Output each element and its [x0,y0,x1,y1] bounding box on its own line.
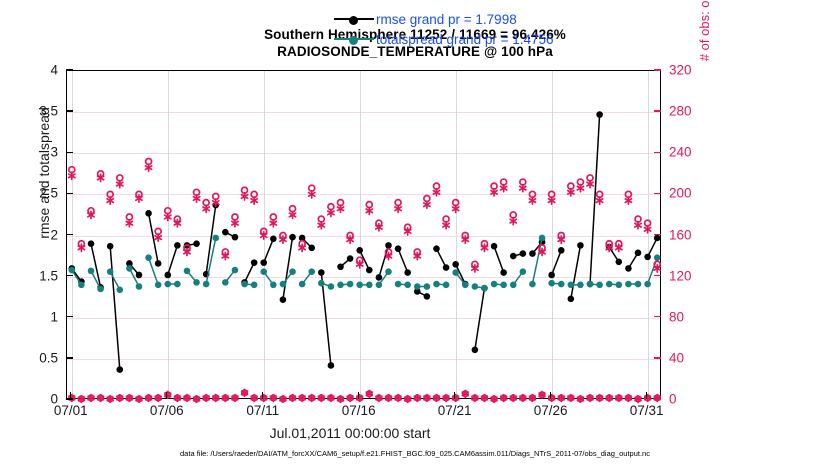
data-point [548,280,555,287]
data-point [232,234,239,241]
data-point [424,283,431,290]
data-point [145,254,152,261]
data-point [318,280,325,287]
data-point [251,259,258,266]
x-tick-mark [358,392,359,399]
obs-assimilated-marker [577,185,583,192]
data-point [616,282,623,289]
pair-connector [264,239,274,263]
data-point [222,229,229,236]
data-point [280,281,287,288]
data-point [625,281,632,288]
data-point [443,264,450,271]
obs-assimilated-marker [510,218,516,225]
y-tick-label-left: 1.5 [0,268,58,283]
data-point [510,253,517,260]
y-tick-mark-right [654,357,661,358]
obs-assimilated-marker [165,213,171,220]
data-point [356,247,363,254]
x-tick-label: 07/21 [438,403,472,418]
data-point [164,272,171,279]
obs-assimilated-marker [126,220,132,227]
data-point [174,242,181,249]
y-tick-label-left: 1 [0,309,58,324]
data-point [529,281,536,288]
obs-assimilated-marker [289,211,295,218]
obs-assimilated-marker [549,197,555,204]
data-point [116,366,123,373]
data-point [472,347,479,354]
pair-connector [494,246,504,272]
x-tick-label: 07/26 [534,403,568,418]
data-point [136,272,143,279]
obs-assimilated-marker [155,234,161,241]
data-point [97,286,104,293]
series--of-obs-rejected-baseline [69,389,660,402]
obs-assimilated-marker [395,205,401,212]
y-tick-mark-left [66,152,73,153]
data-point [596,282,603,289]
data-point [472,283,479,290]
obs-assimilated-marker [587,180,593,187]
data-point [404,269,411,276]
y-tick-label-right: 40 [669,350,684,365]
data-point [155,282,162,289]
data-point [376,282,383,289]
pair-connector [283,237,293,300]
data-file-footnote: data file: /Users/raeder/DAI/ATM_forcXX/… [0,449,830,458]
data-point [644,254,651,261]
obs-assimilated-marker [328,209,334,216]
y-tick-label-right: 120 [669,268,692,283]
data-point [260,268,267,275]
data-point [88,268,95,275]
obs-assimilated-marker [491,189,497,196]
y-tick-label-left: 2 [0,227,58,242]
y-tick-mark-right [654,193,661,194]
data-point [433,281,440,288]
data-point [385,242,392,249]
data-point [328,362,335,369]
series-rmse-grand-pr-1-7998 [68,111,660,373]
y-axis-label-left: rmse and totalspread [36,43,52,303]
data-point [193,279,200,286]
data-point [395,281,402,288]
chart-page: Southern Hemisphere 11252 / 11669 = 96.4… [0,0,830,470]
data-point [577,242,584,249]
y-tick-mark-left [66,275,73,276]
x-tick-mark [262,392,263,399]
legend-item-0[interactable]: rmse grand pr = 1.7998 [334,9,554,29]
y-tick-mark-right [654,316,661,317]
data-point [385,268,392,275]
data-point [481,285,488,292]
y-tick-mark-right [654,234,661,235]
obs-assimilated-marker [203,205,209,212]
data-point [568,282,575,289]
data-point [289,268,296,275]
data-point [164,281,171,288]
x-axis-label: Jul.01,2011 00:00:00 start [0,425,700,441]
x-tick-label: 07/16 [342,403,376,418]
pair-connector [475,288,485,350]
pair-connector [398,249,408,273]
data-point [318,269,325,276]
data-point [251,282,258,289]
data-point [308,245,315,252]
obs-assimilated-marker [270,220,276,227]
pair-connector [552,250,562,275]
y-tick-label-right: 240 [669,145,692,160]
pair-connector [571,245,581,298]
legend-label: rmse grand pr = 1.7998 [376,12,517,27]
data-point [452,261,459,268]
data-point [491,281,498,288]
data-point [193,240,200,247]
obs-assimilated-marker [107,197,113,204]
legend-marker-dot [349,36,358,45]
obs-assimilated-marker [424,201,430,208]
y-tick-label-left: 0.5 [0,350,58,365]
data-point [548,272,555,279]
data-point [347,255,354,262]
data-point [625,265,632,272]
data-point [280,296,287,303]
obs-assimilated-marker [251,197,257,204]
data-point [347,281,354,288]
obs-assimilated-marker [433,189,439,196]
data-point [654,235,661,242]
x-tick-label: 07/06 [150,403,184,418]
pair-connector [110,246,120,369]
x-tick-mark [646,392,647,399]
y-tick-label-right: 320 [669,63,692,78]
data-point [587,281,594,288]
legend-item-1[interactable]: totalspread grand pr = 1.4756 [334,29,554,49]
y-tick-mark-left [66,234,73,235]
data-point [289,234,296,241]
legend-swatch [334,32,374,46]
obs-assimilated-marker [625,197,631,204]
data-point [520,250,527,257]
data-point [452,269,459,276]
y-tick-label-left: 4 [0,63,58,78]
data-point [414,283,421,290]
obs-assimilated-marker [337,205,343,212]
x-tick-mark [70,392,71,399]
y-tick-label-right: 280 [669,104,692,119]
data-point [433,245,440,252]
obs-assimilated-marker [529,197,535,204]
x-tick-label: 07/01 [54,403,88,418]
data-point [107,268,114,275]
y-tick-mark-left [66,193,73,194]
legend-label: totalspread grand pr = 1.4756 [376,32,554,47]
obs-assimilated-marker [597,197,603,204]
data-point [212,235,219,242]
obs-assimilated-marker [69,172,75,179]
obs-assimilated-marker [309,191,315,198]
data-point [270,282,277,289]
y-tick-label-left: 3.5 [0,104,58,119]
data-point [155,260,162,267]
data-point [443,282,450,289]
obs-assimilated-marker [443,222,449,229]
y-axis-label-right: # of obs: o=possible; x=assimilated [697,0,712,90]
data-point [558,247,565,254]
data-point [500,269,507,276]
data-point [424,293,431,300]
data-point [510,282,517,289]
series--of-obs-possible [69,158,660,267]
data-point [222,279,229,286]
data-point [644,281,651,288]
y-tick-mark-left [66,316,73,317]
y-tick-mark-left [66,110,73,111]
data-point [260,259,267,266]
data-point [366,267,373,274]
y-tick-label-left: 3 [0,145,58,160]
data-point [491,243,498,250]
x-tick-label: 07/31 [630,403,664,418]
obs-assimilated-marker [644,226,650,233]
data-point [241,281,248,288]
data-point [107,243,114,250]
data-point [78,282,85,289]
y-tick-mark-right [654,398,661,399]
data-point [337,263,344,270]
data-point [328,283,335,290]
obs-assimilated-marker [318,222,324,229]
data-point [577,282,584,289]
data-point [395,245,402,252]
obs-assimilated-marker [568,189,574,196]
y-tick-mark-right [654,275,661,276]
data-point [462,282,469,289]
x-tick-label: 07/11 [246,403,279,418]
data-point [68,267,75,274]
data-point [136,283,143,290]
data-point [635,249,642,256]
obs-assimilated-marker [145,164,151,171]
data-point [539,235,546,242]
data-point [116,286,123,293]
data-point [356,282,363,289]
data-point [88,240,95,247]
series-layer [67,71,662,400]
y-tick-label-right: 160 [669,227,692,242]
obs-assimilated-marker [501,185,507,192]
y-tick-mark-left [66,69,73,70]
y-tick-mark-right [654,110,661,111]
y-tick-mark-left [66,357,73,358]
y-tick-label-right: 80 [669,309,684,324]
x-tick-mark [166,392,167,399]
obs-assimilated-marker [453,205,459,212]
data-point [126,265,133,272]
x-tick-mark [550,392,551,399]
data-point [184,268,191,275]
data-point [635,281,642,288]
y-tick-mark-right [654,69,661,70]
obs-assimilated-marker [232,220,238,227]
data-point [270,235,277,242]
data-point [145,210,152,217]
data-point [337,282,344,289]
data-point [203,281,210,288]
data-point [606,281,613,288]
data-point [529,250,536,257]
pair-connector [168,245,178,275]
legend-swatch [334,12,374,26]
data-point [568,296,575,303]
obs-assimilated-marker [193,195,199,202]
data-point [520,268,527,275]
data-point [404,282,411,289]
y-tick-label-right: 0 [669,392,677,407]
data-point [596,111,603,118]
y-tick-label-left: 2.5 [0,186,58,201]
obs-assimilated-marker [117,180,123,187]
obs-assimilated-marker [635,222,641,229]
data-point [616,259,623,266]
data-point [174,281,181,288]
data-point [558,281,565,288]
obs-assimilated-marker [366,207,372,214]
data-point [366,282,373,289]
data-point [308,268,315,275]
data-point [232,267,239,274]
legend-marker-dot [349,16,358,25]
chart-legend: rmse grand pr = 1.7998totalspread grand … [330,8,558,50]
y-tick-mark-right [654,152,661,153]
data-point [299,281,306,288]
plot-area [66,70,661,399]
y-tick-label-left: 0 [0,392,58,407]
obs-assimilated-marker [520,185,526,192]
data-point [654,254,661,261]
data-point [500,282,507,289]
data-point [376,274,383,281]
x-tick-mark [454,392,455,399]
obs-assimilated-marker [241,193,247,200]
y-tick-label-right: 200 [669,186,692,201]
